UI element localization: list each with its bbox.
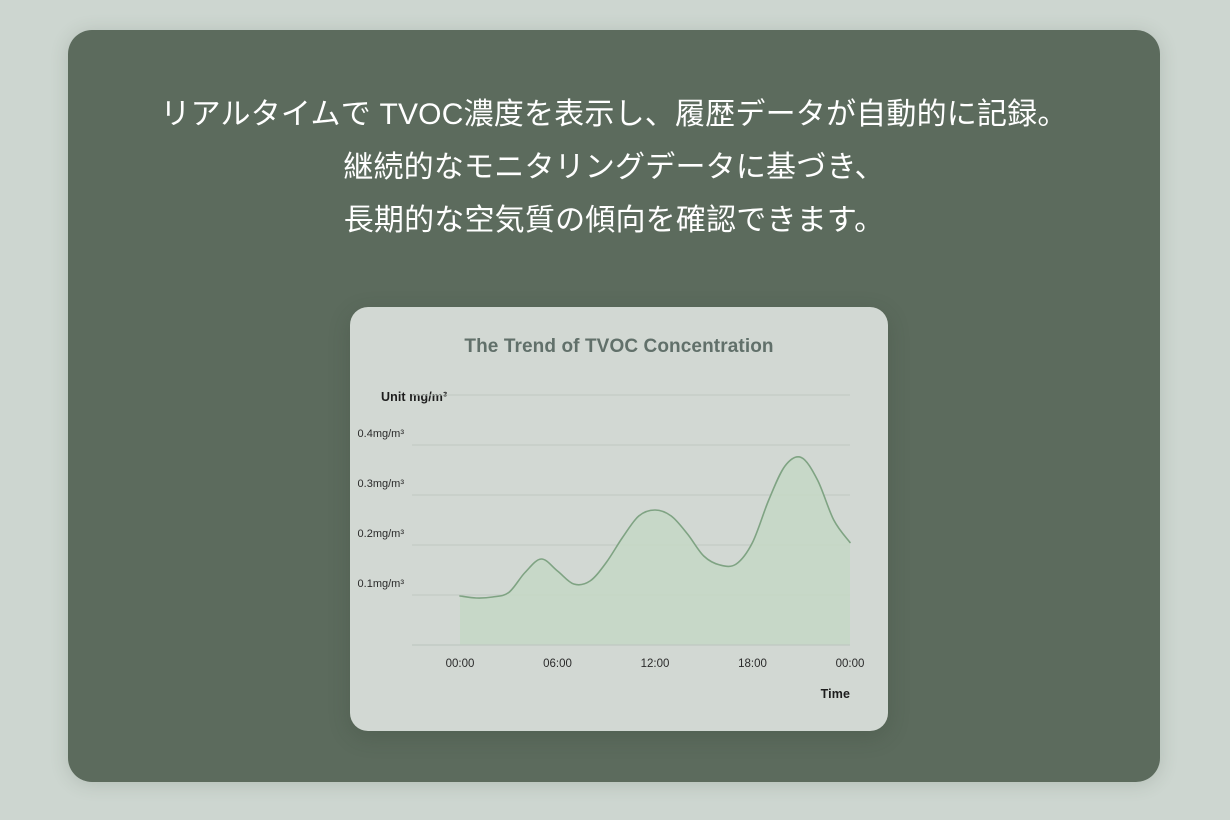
tvoc-area-chart: 0.1mg/m³0.2mg/m³0.3mg/m³0.4mg/m³ 00:0006…	[350, 307, 888, 731]
x-tick-label: 06:00	[543, 658, 572, 670]
headline-line-2: 継続的なモニタリングデータに基づき、	[68, 141, 1160, 194]
headline-line-3: 長期的な空気質の傾向を確認できます。	[68, 194, 1160, 247]
headline-block: リアルタイムで TVOC濃度を表示し、履歴データが自動的に記録。 継続的なモニタ…	[68, 88, 1160, 247]
y-tick-label: 0.1mg/m³	[358, 578, 405, 590]
y-axis-tick-labels: 0.1mg/m³0.2mg/m³0.3mg/m³0.4mg/m³	[358, 428, 405, 590]
screenshot-root: リアルタイムで TVOC濃度を表示し、履歴データが自動的に記録。 継続的なモニタ…	[0, 0, 1230, 820]
y-tick-label: 0.3mg/m³	[358, 478, 405, 490]
x-tick-label: 00:00	[836, 658, 865, 670]
x-tick-label: 12:00	[641, 658, 670, 670]
headline-line-1: リアルタイムで TVOC濃度を表示し、履歴データが自動的に記録。	[68, 88, 1160, 141]
promo-panel: リアルタイムで TVOC濃度を表示し、履歴データが自動的に記録。 継続的なモニタ…	[68, 30, 1160, 782]
y-tick-label: 0.4mg/m³	[358, 428, 405, 440]
y-tick-label: 0.2mg/m³	[358, 528, 405, 540]
series-area-fill	[460, 457, 850, 645]
x-tick-label: 18:00	[738, 658, 767, 670]
x-axis-tick-labels: 00:0006:0012:0018:0000:00	[446, 658, 865, 670]
tvoc-chart-card: The Trend of TVOC Concentration Unit mg/…	[350, 307, 888, 731]
x-tick-label: 00:00	[446, 658, 475, 670]
